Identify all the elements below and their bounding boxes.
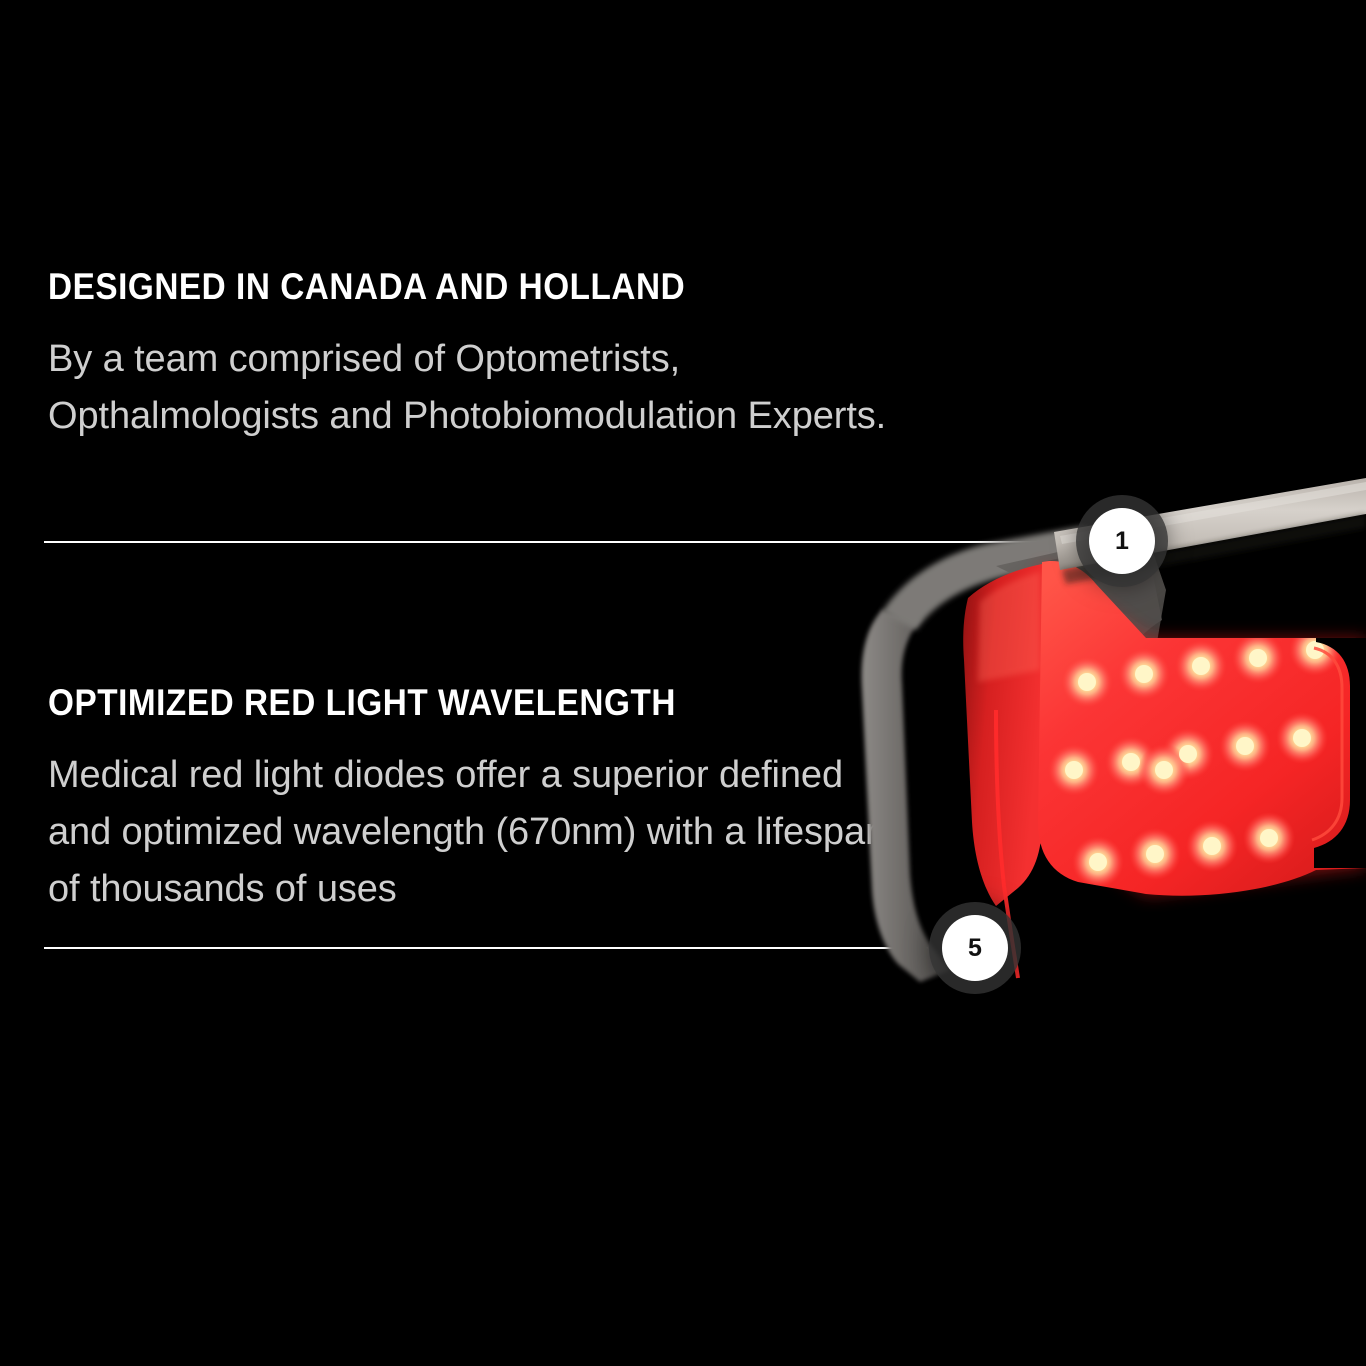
feature-panel: DESIGNED IN CANADA AND HOLLAND By a team…: [0, 0, 1366, 1366]
feature-block-designed-in-canada-and-holland: DESIGNED IN CANADA AND HOLLAND By a team…: [48, 268, 908, 445]
feature-heading: OPTIMIZED RED LIGHT WAVELENGTH: [48, 684, 822, 721]
feature-body-text: By a team comprised of Optometrists, Opt…: [48, 331, 908, 445]
connector-line-2: [44, 947, 928, 949]
temple-arm: [862, 610, 950, 982]
feature-block-optimized-red-light-wavelength: OPTIMIZED RED LIGHT WAVELENGTH Medical r…: [48, 684, 908, 918]
feature-body-text: Medical red light diodes offer a superio…: [48, 747, 908, 918]
feature-heading: DESIGNED IN CANADA AND HOLLAND: [48, 268, 822, 305]
callout-badge-1[interactable]: 1: [1089, 508, 1155, 574]
callout-badge-5[interactable]: 5: [942, 915, 1008, 981]
